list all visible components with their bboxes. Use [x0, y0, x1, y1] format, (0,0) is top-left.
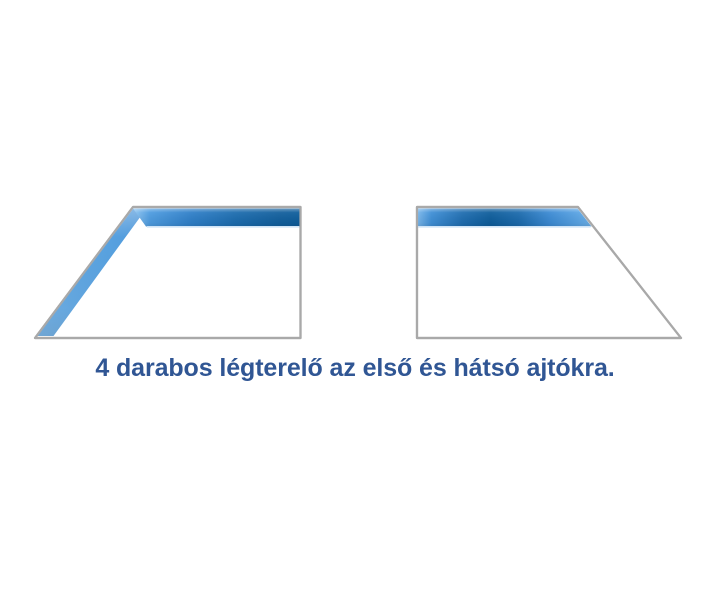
right-deflector-top-band-shade	[418, 209, 592, 227]
left-deflector-top-band-shade	[133, 209, 300, 227]
illustration-stage: 4 darabos légterelő az első és hátsó ajt…	[0, 0, 710, 613]
left-deflector-group	[35, 207, 301, 338]
product-caption: 4 darabos légterelő az első és hátsó ajt…	[0, 352, 710, 384]
right-deflector-group	[417, 207, 681, 338]
wind-deflector-illustration	[0, 0, 710, 613]
